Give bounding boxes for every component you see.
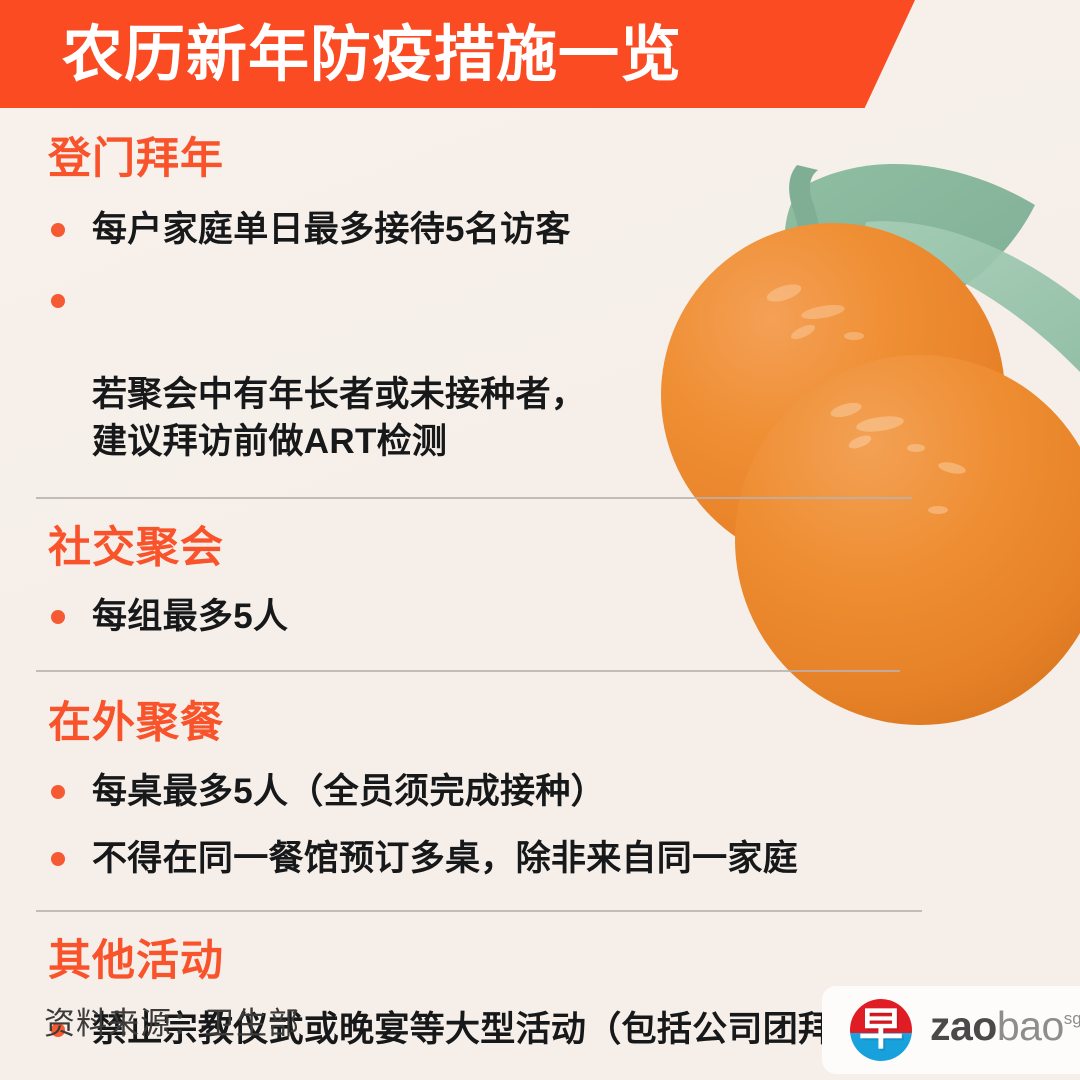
section-bullets: 每桌最多5人（全员须完成接种） 不得在同一餐馆预订多桌，除非来自同一家庭: [0, 768, 1080, 882]
list-item: 每户家庭单日最多接待5名访客: [0, 206, 1080, 253]
bullet-dot-icon: [51, 785, 65, 799]
list-item-text: 每户家庭单日最多接待5名访客: [92, 210, 571, 249]
section-dining-out: 在外聚餐 每桌最多5人（全员须完成接种） 不得在同一餐馆预订多桌，除非来自同一家…: [0, 672, 1080, 882]
bullet-dot-icon: [51, 223, 65, 237]
bullet-dot-icon: [51, 610, 65, 624]
bullet-dot-icon: [51, 852, 65, 866]
section-bullets: 每户家庭单日最多接待5名访客 若聚会中有年长者或未接种者， 建议拜访前做ART检…: [0, 206, 1080, 465]
zaobao-wordmark: zaobaosg: [930, 1004, 1080, 1057]
measures-list: 登门拜年 每户家庭单日最多接待5名访客 若聚会中有年长者或未接种者， 建议拜访前…: [0, 108, 1080, 1053]
zaobao-logo[interactable]: 早 zaobaosg: [822, 986, 1080, 1074]
list-item: 每桌最多5人（全员须完成接种）: [0, 768, 1080, 815]
wordmark-sg: sg: [1064, 1009, 1080, 1028]
list-item-text: 不得在同一餐馆预订多桌，除非来自同一家庭: [92, 839, 798, 878]
list-item-text: 若聚会中有年长者或未接种者， 建议拜访前做ART检测: [92, 375, 586, 461]
source-credit: 资料来源：卫生部: [44, 1005, 300, 1043]
page-title: 农历新年防疫措施一览: [62, 12, 682, 96]
section-heading: 其他活动: [0, 934, 1080, 988]
section-social-gatherings: 社交聚会 每组最多5人: [0, 499, 1080, 640]
list-item-text: 每桌最多5人（全员须完成接种）: [92, 772, 606, 811]
section-heading: 社交聚会: [0, 521, 1080, 575]
wordmark-zao: zao: [930, 1003, 997, 1049]
infographic-poster: 农历新年防疫措施一览 登门拜年 每户家庭单日最多接待5名访客 若聚会中有年长者或…: [0, 0, 1080, 1080]
section-heading: 登门拜年: [0, 132, 1080, 186]
list-item: 若聚会中有年长者或未接种者， 建议拜访前做ART检测: [0, 277, 1080, 465]
list-item: 每组最多5人: [0, 593, 1080, 640]
zao-character: 早: [850, 999, 912, 1061]
section-bullets: 每组最多5人: [0, 593, 1080, 640]
list-item-text: 每组最多5人: [92, 597, 288, 636]
section-visiting-homes: 登门拜年 每户家庭单日最多接待5名访客 若聚会中有年长者或未接种者， 建议拜访前…: [0, 108, 1080, 465]
bullet-dot-icon: [51, 294, 65, 308]
section-heading: 在外聚餐: [0, 696, 1080, 750]
wordmark-bao: bao: [997, 1003, 1064, 1049]
list-item: 不得在同一餐馆预订多桌，除非来自同一家庭: [0, 835, 1080, 882]
zaobao-mark-icon: 早: [850, 999, 912, 1061]
